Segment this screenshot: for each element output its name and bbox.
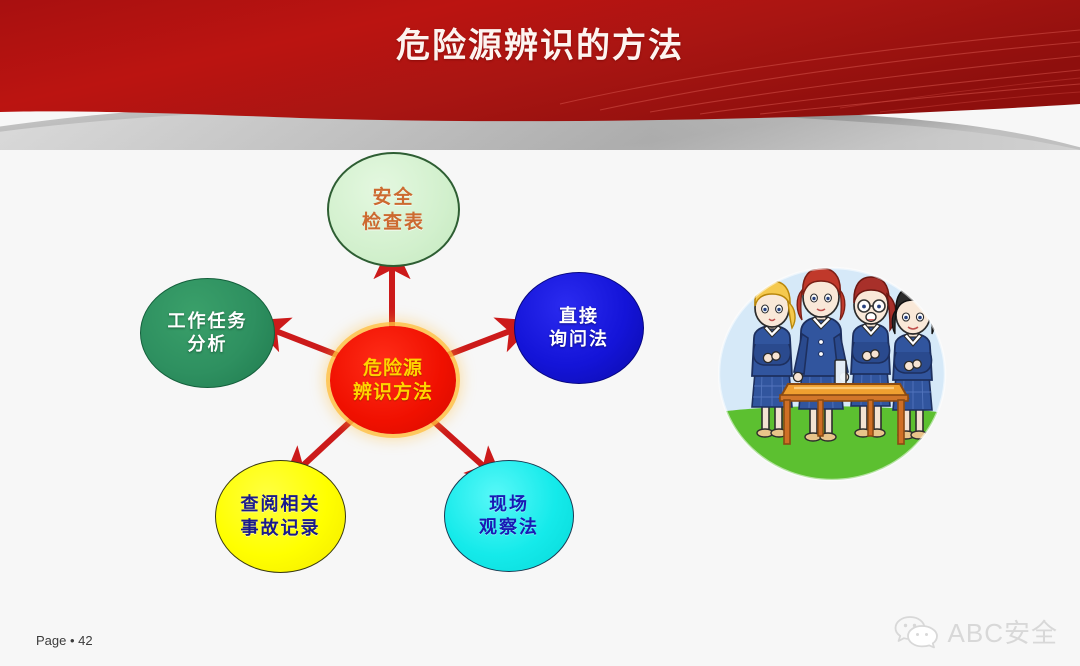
- diagram-node-records-line2: 事故记录: [241, 517, 321, 540]
- brand-watermark: ABC安全: [894, 613, 1058, 650]
- diagram-node-checklist-line1: 安全: [372, 185, 414, 209]
- diagram-node-interview-line1: 直接: [559, 305, 599, 328]
- diagram-canvas: 危险源 辨识方法 安全 检查表 工作任务 分析 直接 询问法 查阅相关 事故记录…: [0, 120, 1080, 666]
- diagram-node-center-line1: 危险源: [363, 356, 423, 380]
- diagram-node-interview[interactable]: 直接 询问法: [514, 272, 644, 384]
- arrow-to-task-analysis: [268, 328, 345, 358]
- page-title: 危险源辨识的方法: [0, 18, 1080, 67]
- diagram-node-task-analysis-line2: 分析: [188, 333, 228, 356]
- diagram-node-center-line2: 辨识方法: [353, 380, 433, 404]
- diagram-node-task-analysis[interactable]: 工作任务 分析: [140, 278, 275, 388]
- diagram-node-observation-line1: 现场: [489, 493, 529, 516]
- diagram-node-checklist[interactable]: 安全 检查表: [327, 152, 460, 267]
- diagram-node-task-analysis-line1: 工作任务: [168, 310, 248, 333]
- diagram-node-records-line1: 查阅相关: [241, 493, 321, 516]
- slide: 危险源辨识的方法 危: [0, 0, 1080, 666]
- diagram-node-center[interactable]: 危险源 辨识方法: [330, 326, 456, 434]
- diagram-node-interview-line2: 询问法: [549, 328, 609, 351]
- page-number: Page • 42: [36, 633, 93, 648]
- diagram-node-observation-line2: 观察法: [479, 516, 539, 539]
- brand-label: ABC安全: [948, 613, 1058, 650]
- arrow-to-interview: [440, 328, 518, 358]
- meeting-illustration: [718, 264, 952, 484]
- diagram-node-observation[interactable]: 现场 观察法: [444, 460, 574, 572]
- wechat-bubble-icon: [894, 615, 940, 649]
- diagram-node-checklist-line2: 检查表: [362, 210, 425, 234]
- diagram-node-records[interactable]: 查阅相关 事故记录: [215, 460, 346, 573]
